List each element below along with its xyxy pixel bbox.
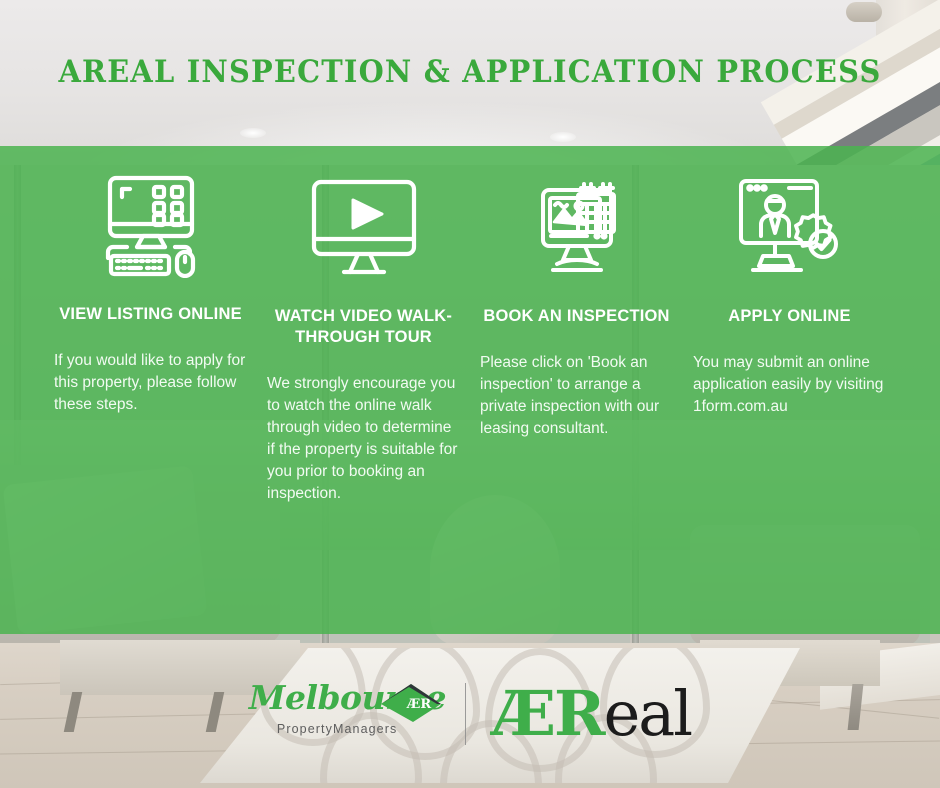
step-body: We strongly encourage you to watch the o… bbox=[267, 373, 460, 505]
step-view-listing-online: VIEW LISTING ONLINE If you would like to… bbox=[44, 146, 257, 634]
blind-roller-rod bbox=[846, 2, 882, 22]
areal-logo: ÆReal bbox=[492, 683, 691, 745]
infographic-poster: AREAL INSPECTION & APPLICATION PROCESS bbox=[0, 0, 940, 788]
roof-monogram-text: ÆR bbox=[406, 697, 431, 712]
step-book-an-inspection: BOOK AN INSPECTION Please click on 'Book… bbox=[470, 146, 683, 634]
monitor-person-gear-check-icon bbox=[693, 146, 886, 282]
melbourne-property-managers-logo: Melbourne PropertyManagers ÆR bbox=[249, 676, 439, 752]
step-heading: APPLY ONLINE bbox=[693, 306, 886, 327]
process-steps: VIEW LISTING ONLINE If you would like to… bbox=[0, 146, 940, 634]
step-watch-video-walkthrough: WATCH VIDEO WALK-THROUGH TOUR We strongl… bbox=[257, 146, 470, 634]
monitor-calendar-photo-icon bbox=[480, 146, 673, 282]
property-managers-subtitle: PropertyManagers bbox=[277, 722, 397, 736]
monitor-video-play-icon bbox=[267, 146, 460, 282]
step-heading: WATCH VIDEO WALK-THROUGH TOUR bbox=[267, 306, 460, 348]
desktop-computer-keyboard-mouse-icon bbox=[54, 146, 247, 280]
logo-divider bbox=[465, 683, 466, 745]
logo-row: Melbourne PropertyManagers ÆR ÆReal bbox=[0, 676, 940, 752]
house-roof-monogram-icon: ÆR bbox=[379, 682, 443, 722]
step-body: If you would like to apply for this prop… bbox=[54, 350, 247, 416]
page-title: AREAL INSPECTION & APPLICATION PROCESS bbox=[33, 54, 907, 90]
step-heading: BOOK AN INSPECTION bbox=[480, 306, 673, 327]
ceiling-downlight bbox=[550, 132, 576, 142]
step-heading: VIEW LISTING ONLINE bbox=[54, 304, 247, 325]
ceiling-downlight bbox=[240, 128, 266, 138]
step-apply-online: APPLY ONLINE You may submit an online ap… bbox=[683, 146, 896, 634]
step-body: Please click on 'Book an inspection' to … bbox=[480, 352, 673, 440]
areal-monogram: ÆR bbox=[492, 677, 604, 750]
step-body: You may submit an online application eas… bbox=[693, 352, 886, 418]
areal-wordmark: eal bbox=[604, 677, 691, 750]
